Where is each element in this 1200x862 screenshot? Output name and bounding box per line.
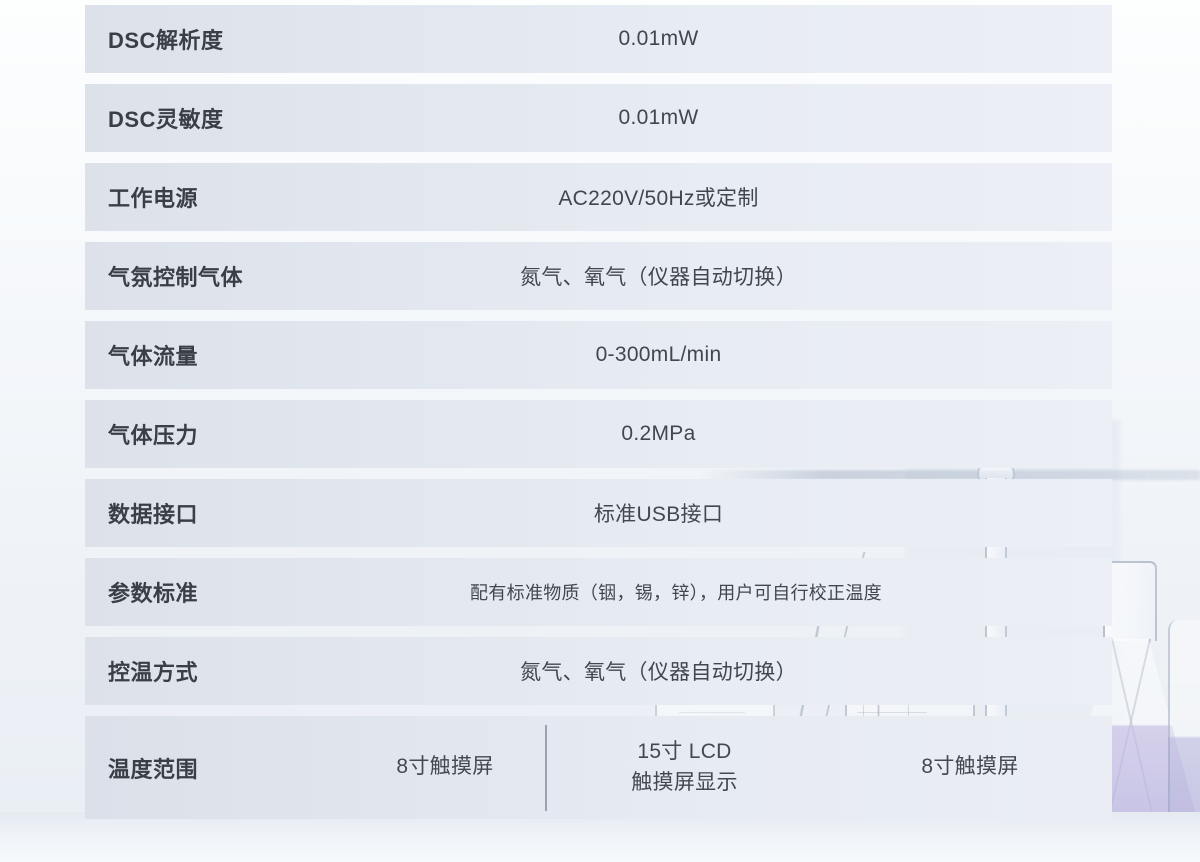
- spec-label: 参数标准: [85, 576, 345, 608]
- spec-label: DSC解析度: [85, 23, 345, 55]
- spec-label: 数据接口: [85, 497, 345, 529]
- spec-label: 气氛控制气体: [85, 260, 345, 292]
- spec-value: 氮气、氧气（仪器自动切换）: [345, 261, 1112, 291]
- spec-value: 0.2MPa: [345, 422, 1112, 446]
- spec-value: 0.01mW: [345, 27, 1112, 51]
- table-row: 气体流量 0-300mL/min: [85, 321, 1112, 389]
- screen-option-3-label: 8寸触摸屏: [921, 752, 1018, 782]
- spec-value: 配有标准物质（铟，锡，锌），用户可自行校正温度: [345, 579, 1112, 605]
- table-row: 参数标准 配有标准物质（铟，锡，锌），用户可自行校正温度: [85, 558, 1112, 626]
- table-row: 控温方式 氮气、氧气（仪器自动切换）: [85, 637, 1112, 705]
- screen-option-group: 8寸触摸屏 15寸 LCD 触摸屏显示 8寸触摸屏: [345, 716, 1116, 819]
- spec-label: 工作电源: [85, 181, 345, 213]
- spec-label: 温度范围: [85, 752, 345, 784]
- table-row: DSC灵敏度 0.01mW: [85, 84, 1112, 152]
- screen-option-3: 8寸触摸屏: [824, 716, 1116, 819]
- table-row: 工作电源 AC220V/50Hz或定制: [85, 163, 1112, 231]
- screen-option-1-label: 8寸触摸屏: [396, 752, 493, 782]
- screen-option-2-line2: 触摸屏显示: [631, 771, 738, 794]
- spec-value: AC220V/50Hz或定制: [345, 182, 1112, 212]
- screen-option-2-line1: 15寸 LCD: [637, 740, 731, 763]
- table-row-screen-options: 温度范围 8寸触摸屏 15寸 LCD 触摸屏显示 8寸触摸屏: [85, 716, 1112, 819]
- spec-value: 0-300mL/min: [345, 343, 1112, 367]
- spec-label: 气体压力: [85, 418, 345, 450]
- spec-value: 氮气、氧气（仪器自动切换）: [345, 656, 1112, 686]
- table-row: 数据接口 标准USB接口: [85, 479, 1112, 547]
- spec-label: DSC灵敏度: [85, 102, 345, 134]
- table-row: 气氛控制气体 氮气、氧气（仪器自动切换）: [85, 242, 1112, 310]
- screen-option-1: 8寸触摸屏: [345, 716, 545, 819]
- screen-option-2: 15寸 LCD 触摸屏显示: [547, 716, 822, 819]
- table-row: DSC解析度 0.01mW: [85, 5, 1112, 73]
- spec-label: 控温方式: [85, 655, 345, 687]
- spec-value: 标准USB接口: [345, 498, 1112, 528]
- specification-table: DSC解析度 0.01mW DSC灵敏度 0.01mW 工作电源 AC220V/…: [85, 5, 1112, 830]
- table-row: 气体压力 0.2MPa: [85, 400, 1112, 468]
- spec-value: 0.01mW: [345, 106, 1112, 130]
- spec-label: 气体流量: [85, 339, 345, 371]
